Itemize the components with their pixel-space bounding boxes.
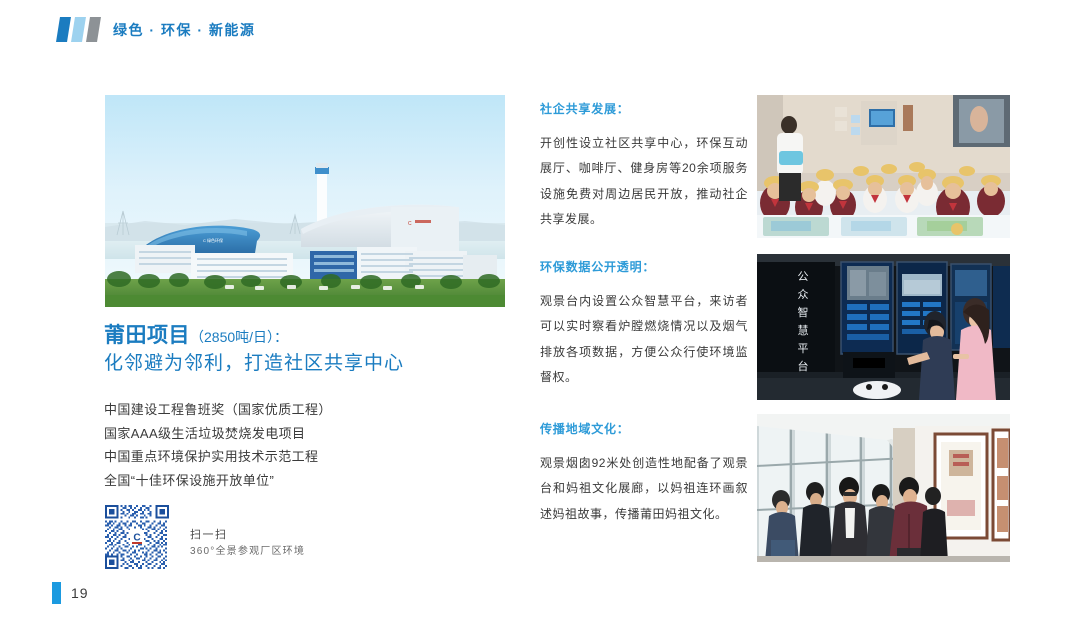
photo-mazu-culture-corridor	[757, 414, 1010, 562]
section-data-transparency: 环保数据公开透明： 观景台内设置公众智慧平台，来访者可以实时察看炉膛燃烧情况以及…	[540, 258, 748, 391]
page-number: 19	[71, 585, 89, 601]
section-heading: 环保数据公开透明：	[540, 258, 748, 276]
svg-text:C 绿色环保: C 绿色环保	[203, 237, 223, 243]
award-item: 国家AAA级生活垃圾焚烧发电项目	[104, 422, 524, 446]
svg-text:慧: 慧	[798, 323, 809, 337]
page-footer: 19	[52, 582, 89, 604]
photo2-graphic: 公众智 慧平台	[757, 254, 1010, 400]
qr-code-icon[interactable]: C	[105, 505, 169, 569]
photo1-graphic	[757, 95, 1010, 238]
qr-caption: 扫一扫 360°全景参观厂区环境	[190, 527, 305, 559]
photo-public-smart-platform: 公众智 慧平台	[757, 254, 1010, 400]
section-community-sharing: 社企共享发展： 开创性设立社区共享中心，环保互动展厅、咖啡厅、健身房等20余项服…	[540, 100, 748, 233]
brochure-page: 绿色 · 环保 · 新能源	[0, 0, 1070, 620]
svg-text:众: 众	[798, 288, 809, 301]
page-number-bar-icon	[52, 582, 61, 604]
section-local-culture: 传播地域文化： 观景烟囱92米处创造性地配备了观景台和妈祖文化展廊，以妈祖连环画…	[540, 420, 748, 527]
section-body: 开创性设立社区共享中心，环保互动展厅、咖啡厅、健身房等20余项服务设施免费对周边…	[540, 131, 748, 233]
project-capacity: （2850吨/日）：	[190, 329, 288, 345]
photo-exhibition-hall-students	[757, 95, 1010, 238]
photo3-graphic	[757, 414, 1010, 562]
project-title-main: 莆田项目	[104, 324, 190, 347]
three-bars-logo-icon	[58, 17, 104, 42]
qr-caption-line1: 扫一扫	[190, 527, 305, 544]
award-item: 中国重点环境保护实用技术示范工程	[104, 445, 524, 469]
section-body: 观景烟囱92米处创造性地配备了观景台和妈祖文化展廊，以妈祖连环画叙述妈祖故事，传…	[540, 451, 748, 527]
header-tagline: 绿色 · 环保 · 新能源	[113, 20, 255, 40]
qr-code-graphic: C	[105, 505, 169, 569]
project-title-block: 莆田项目（2850吨/日）： 化邻避为邻利，打造社区共享中心	[104, 322, 524, 379]
award-item: 全国“十佳环保设施开放单位”	[104, 469, 524, 493]
section-body: 观景台内设置公众智慧平台，来访者可以实时察看炉膛燃烧情况以及烟气排放各项数据，方…	[540, 289, 748, 391]
awards-list: 中国建设工程鲁班奖（国家优质工程） 国家AAA级生活垃圾焚烧发电项目 中国重点环…	[104, 398, 524, 493]
page-header: 绿色 · 环保 · 新能源	[0, 0, 1070, 60]
svg-text:平: 平	[798, 343, 809, 355]
hero-photo-graphic: C C 绿色环保	[105, 95, 505, 307]
project-title: 莆田项目（2850吨/日）：	[104, 322, 524, 350]
svg-text:C: C	[408, 221, 412, 227]
svg-text:公: 公	[798, 271, 809, 283]
qr-caption-line2: 360°全景参观厂区环境	[190, 544, 305, 559]
qr-code-block[interactable]: C	[105, 505, 169, 569]
section-heading: 传播地域文化：	[540, 420, 748, 438]
svg-text:台: 台	[798, 359, 809, 373]
hero-plant-photo: C C 绿色环保	[105, 95, 505, 307]
svg-text:C: C	[133, 533, 140, 544]
project-subtitle: 化邻避为邻利，打造社区共享中心	[104, 350, 524, 379]
award-item: 中国建设工程鲁班奖（国家优质工程）	[104, 398, 524, 422]
svg-text:智: 智	[798, 305, 809, 319]
section-heading: 社企共享发展：	[540, 100, 748, 118]
